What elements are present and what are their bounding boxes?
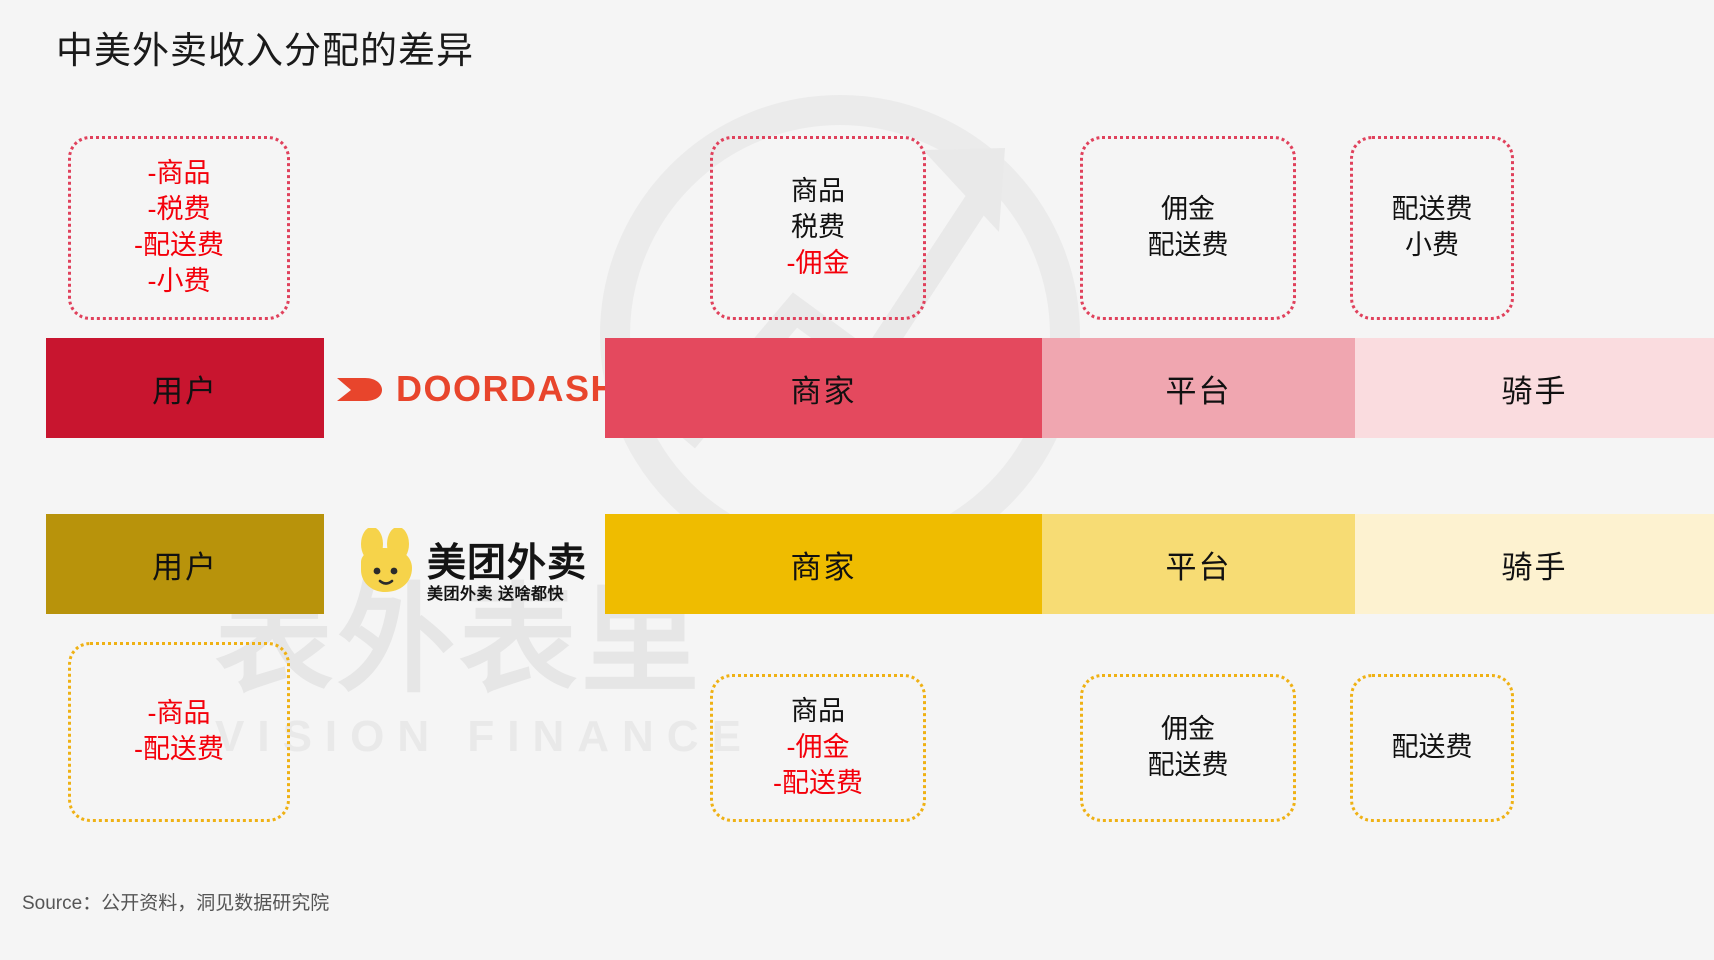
note-line: -配送费: [134, 228, 224, 264]
note-meituan-platform: 佣金 配送费: [1080, 674, 1296, 822]
bar-meituan-merchant: 商家: [605, 514, 1042, 614]
doordash-logo: DOORDASH: [335, 368, 618, 410]
bar-label: 商家: [791, 366, 857, 411]
note-doordash-rider: 配送费 小费: [1350, 136, 1514, 320]
note-line: 税费: [791, 210, 845, 246]
note-line: -商品: [148, 696, 211, 732]
meituan-logo: 美团外卖 美团外卖 送啥都快: [355, 528, 595, 608]
note-line: -佣金: [787, 730, 850, 766]
bar-label: 用户: [152, 542, 218, 587]
bar-doordash-merchant: 商家: [605, 338, 1042, 438]
doordash-dash-icon: [335, 369, 383, 409]
note-meituan-merchant: 商品 -佣金 -配送费: [710, 674, 926, 822]
note-line: 配送费: [1392, 730, 1473, 766]
bar-meituan-user: 用户: [46, 514, 324, 614]
bar-doordash-platform: 平台: [1042, 338, 1355, 438]
note-doordash-merchant: 商品 税费 -佣金: [710, 136, 926, 320]
note-line: -配送费: [134, 732, 224, 768]
bar-label: 商家: [791, 542, 857, 587]
bar-doordash-user: 用户: [46, 338, 324, 438]
note-line: 配送费: [1148, 228, 1229, 264]
note-line: -小费: [148, 264, 211, 300]
note-line: 商品: [791, 694, 845, 730]
watermark-text-en: VISION FINANCE: [215, 712, 1095, 762]
page-title: 中美外卖收入分配的差异: [56, 20, 474, 74]
note-line: 配送费: [1148, 748, 1229, 784]
note-line: -配送费: [773, 766, 863, 802]
bar-doordash-rider: 骑手: [1355, 338, 1714, 438]
bar-label: 骑手: [1502, 366, 1568, 411]
infographic-canvas: 表外表里 VISION FINANCE 中美外卖收入分配的差异 -商品 -税费 …: [0, 0, 1714, 960]
note-meituan-user: -商品 -配送费: [68, 642, 290, 822]
note-line: 小费: [1405, 228, 1459, 264]
doordash-wordmark: DOORDASH: [396, 368, 618, 410]
bar-label: 平台: [1166, 366, 1232, 411]
note-line: 佣金: [1161, 192, 1215, 228]
note-line: -商品: [148, 156, 211, 192]
meituan-kangaroo-icon: [355, 528, 421, 598]
note-line: -佣金: [787, 246, 850, 282]
bar-label: 平台: [1166, 542, 1232, 587]
note-line: -税费: [148, 192, 211, 228]
note-meituan-rider: 配送费: [1350, 674, 1514, 822]
bar-label: 骑手: [1502, 542, 1568, 587]
note-line: 配送费: [1392, 192, 1473, 228]
source-footer: Source：公开资料，洞见数据研究院: [22, 888, 329, 915]
bar-meituan-rider: 骑手: [1355, 514, 1714, 614]
bar-meituan-platform: 平台: [1042, 514, 1355, 614]
meituan-tagline: 美团外卖 送啥都快: [427, 580, 564, 604]
note-line: 商品: [791, 174, 845, 210]
bar-label: 用户: [152, 366, 218, 411]
note-doordash-user: -商品 -税费 -配送费 -小费: [68, 136, 290, 320]
note-line: 佣金: [1161, 712, 1215, 748]
note-doordash-platform: 佣金 配送费: [1080, 136, 1296, 320]
